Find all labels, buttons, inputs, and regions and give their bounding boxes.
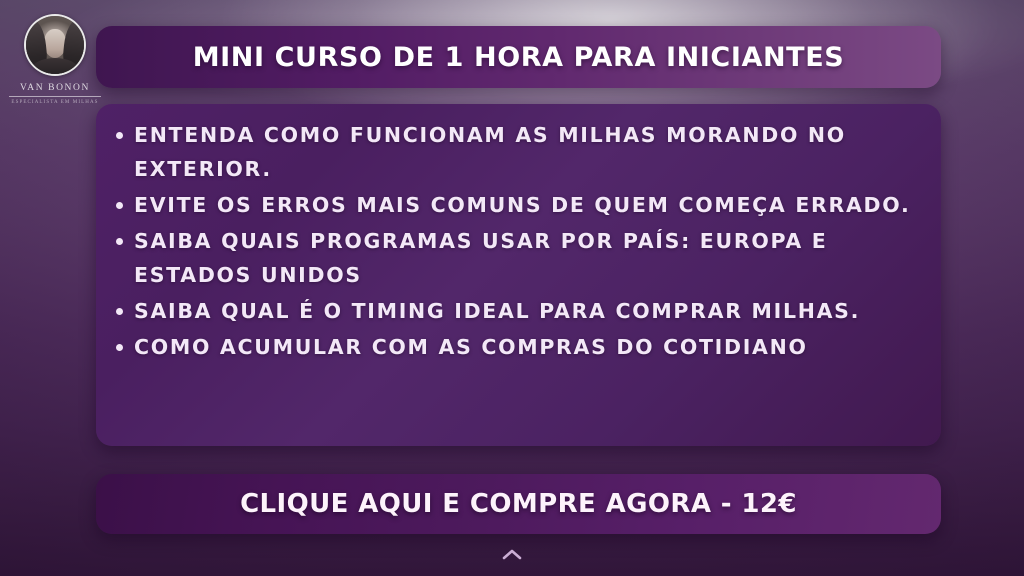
brand-name: VAN BONON [8, 83, 102, 93]
list-item: SAIBA QUAL É O TIMING IDEAL PARA COMPRAR… [104, 294, 925, 328]
brand-tagline: ESPECIALISTA EM MILHAS [8, 100, 102, 105]
buy-now-label: CLIQUE AQUI E COMPRE AGORA - 12€ [240, 489, 797, 519]
avatar-shoulders [32, 58, 78, 76]
benefits-list: ENTENDA COMO FUNCIONAM AS MILHAS MORANDO… [104, 118, 925, 364]
list-item: ENTENDA COMO FUNCIONAM AS MILHAS MORANDO… [104, 118, 925, 186]
page-title: MINI CURSO DE 1 HORA PARA INICIANTES [193, 42, 845, 73]
promo-slide: VAN BONON ESPECIALISTA EM MILHAS MINI CU… [0, 0, 1024, 576]
list-item: EVITE OS ERROS MAIS COMUNS DE QUEM COMEÇ… [104, 188, 925, 222]
brand-logo: VAN BONON ESPECIALISTA EM MILHAS [8, 14, 102, 105]
buy-now-button[interactable]: CLIQUE AQUI E COMPRE AGORA - 12€ [96, 474, 941, 534]
chevron-up-icon[interactable] [502, 548, 522, 560]
brand-divider [9, 96, 101, 97]
list-item: SAIBA QUAIS PROGRAMAS USAR POR PAÍS: EUR… [104, 224, 925, 292]
benefits-card: ENTENDA COMO FUNCIONAM AS MILHAS MORANDO… [96, 104, 941, 446]
list-item: COMO ACUMULAR COM AS COMPRAS DO COTIDIAN… [104, 330, 925, 364]
header-banner: MINI CURSO DE 1 HORA PARA INICIANTES [96, 26, 941, 88]
portrait-avatar-icon [24, 14, 86, 76]
